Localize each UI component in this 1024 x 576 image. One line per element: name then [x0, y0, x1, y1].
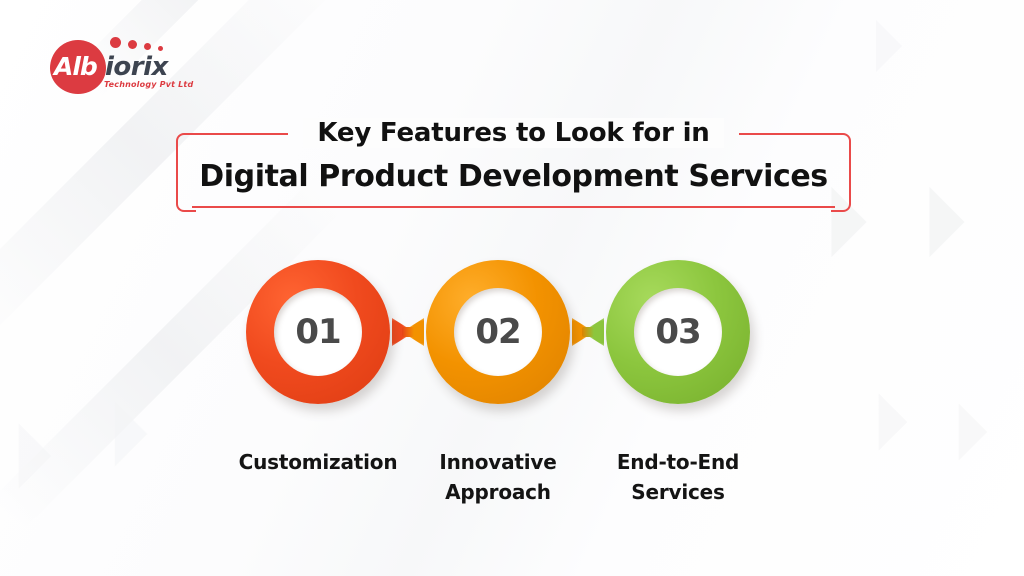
- step-number-hub: 02: [454, 288, 542, 376]
- step-number-hub: 03: [634, 288, 722, 376]
- process-flow: 01 02 03 Customization Innovative Approa…: [0, 0, 1024, 576]
- connector-pinch-node: [402, 327, 414, 337]
- process-step-2[interactable]: 02: [426, 260, 570, 404]
- connector-step1-step2: [392, 318, 424, 346]
- process-step-3[interactable]: 03: [606, 260, 750, 404]
- process-step-1[interactable]: 01: [246, 260, 390, 404]
- step-number: 02: [475, 312, 520, 352]
- step-number: 03: [655, 312, 700, 352]
- infographic-canvas: Alb iorix Technology Pvt Ltd Key Feature…: [0, 0, 1024, 576]
- process-step-3-label: End-to-End Services: [568, 447, 788, 507]
- connector-step2-step3: [572, 318, 604, 346]
- step-number-hub: 01: [274, 288, 362, 376]
- connector-pinch-node: [582, 327, 594, 337]
- step-number: 01: [295, 312, 340, 352]
- process-step-3-label-line-1: End-to-End: [568, 447, 788, 477]
- process-step-3-label-line-2: Services: [568, 477, 788, 507]
